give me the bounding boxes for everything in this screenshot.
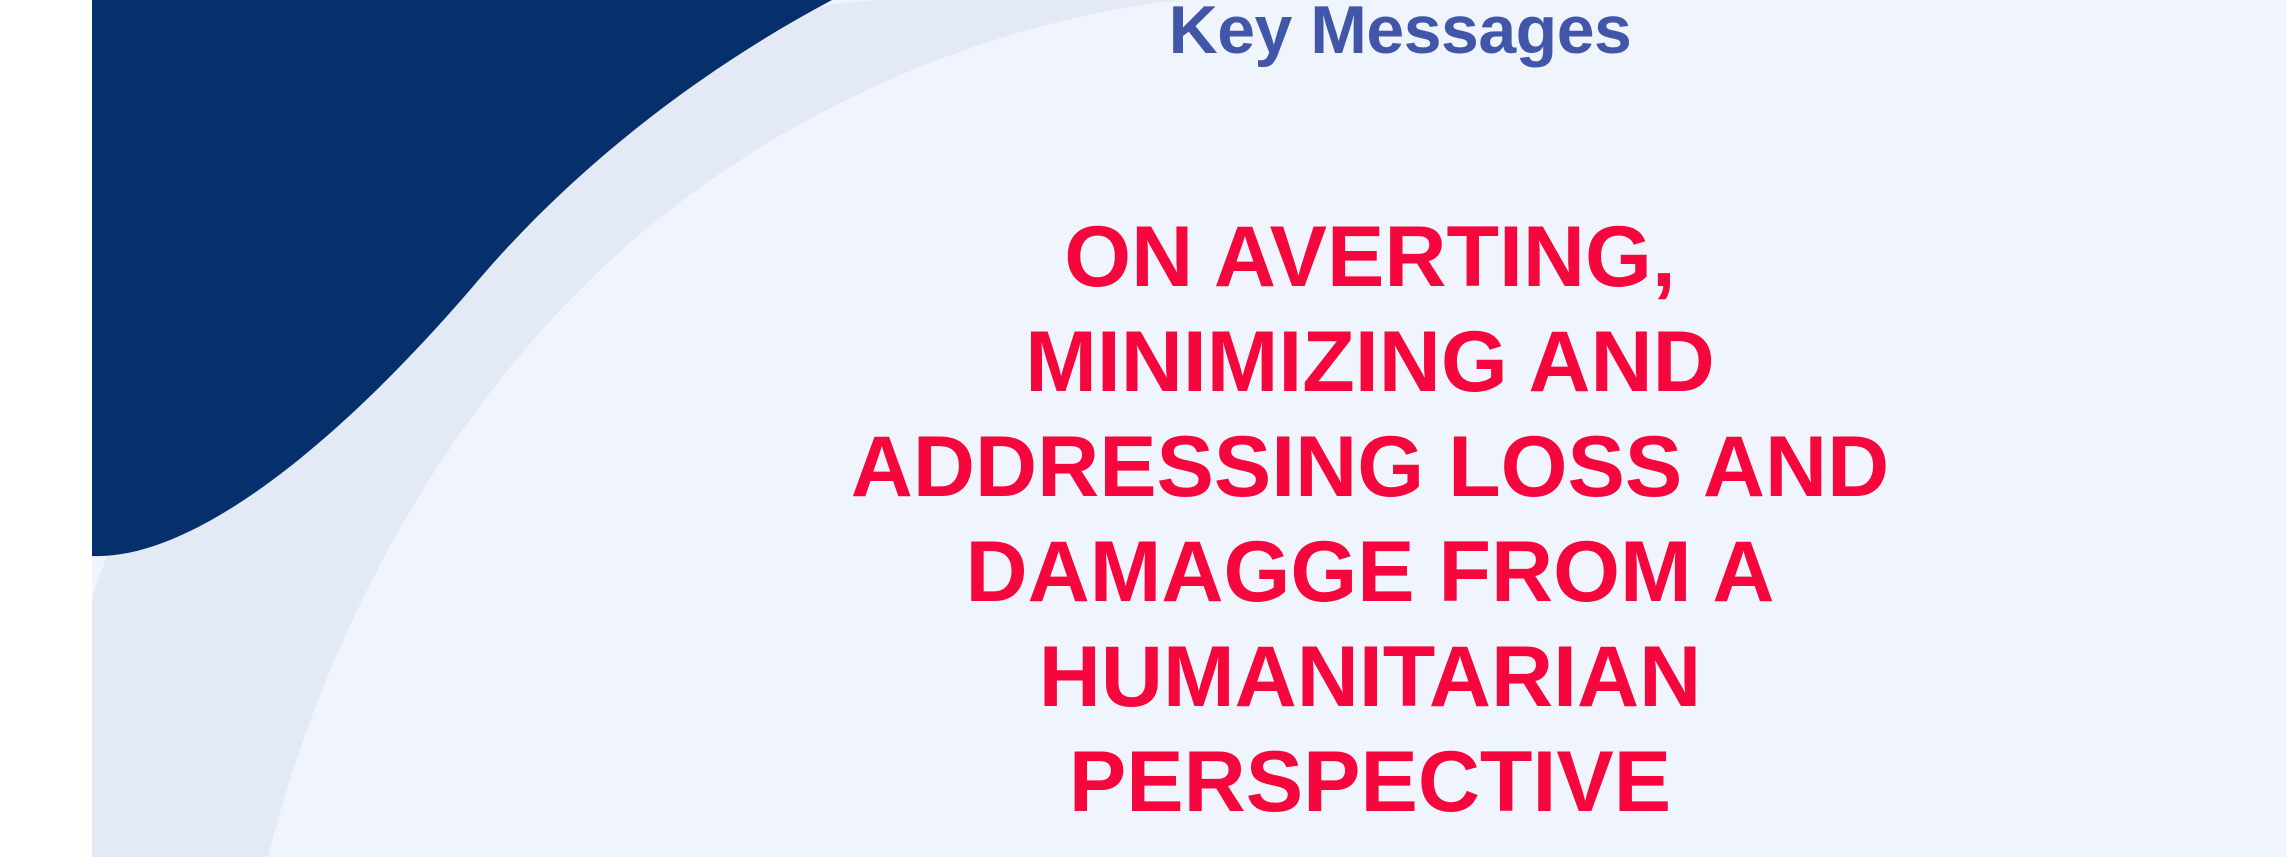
headline-line-3: ADDRESSING LOSS AND xyxy=(500,415,2240,520)
headline-line-1: ON AVERTING, xyxy=(500,205,2240,310)
slide-content: Key Messages ON AVERTING, MINIMIZING AND… xyxy=(0,0,2286,857)
headline-line-2: MINIMIZING AND xyxy=(500,310,2240,415)
headline-block: ON AVERTING, MINIMIZING AND ADDRESSING L… xyxy=(500,205,2240,834)
headline-line-6: PERSPECTIVE xyxy=(500,730,2240,835)
headline-line-5: HUMANITARIAN xyxy=(500,625,2240,730)
page-title: Key Messages xyxy=(560,0,2240,68)
slide-canvas: Key Messages ON AVERTING, MINIMIZING AND… xyxy=(0,0,2286,857)
headline-line-4: DAMAGGE FROM A xyxy=(500,520,2240,625)
